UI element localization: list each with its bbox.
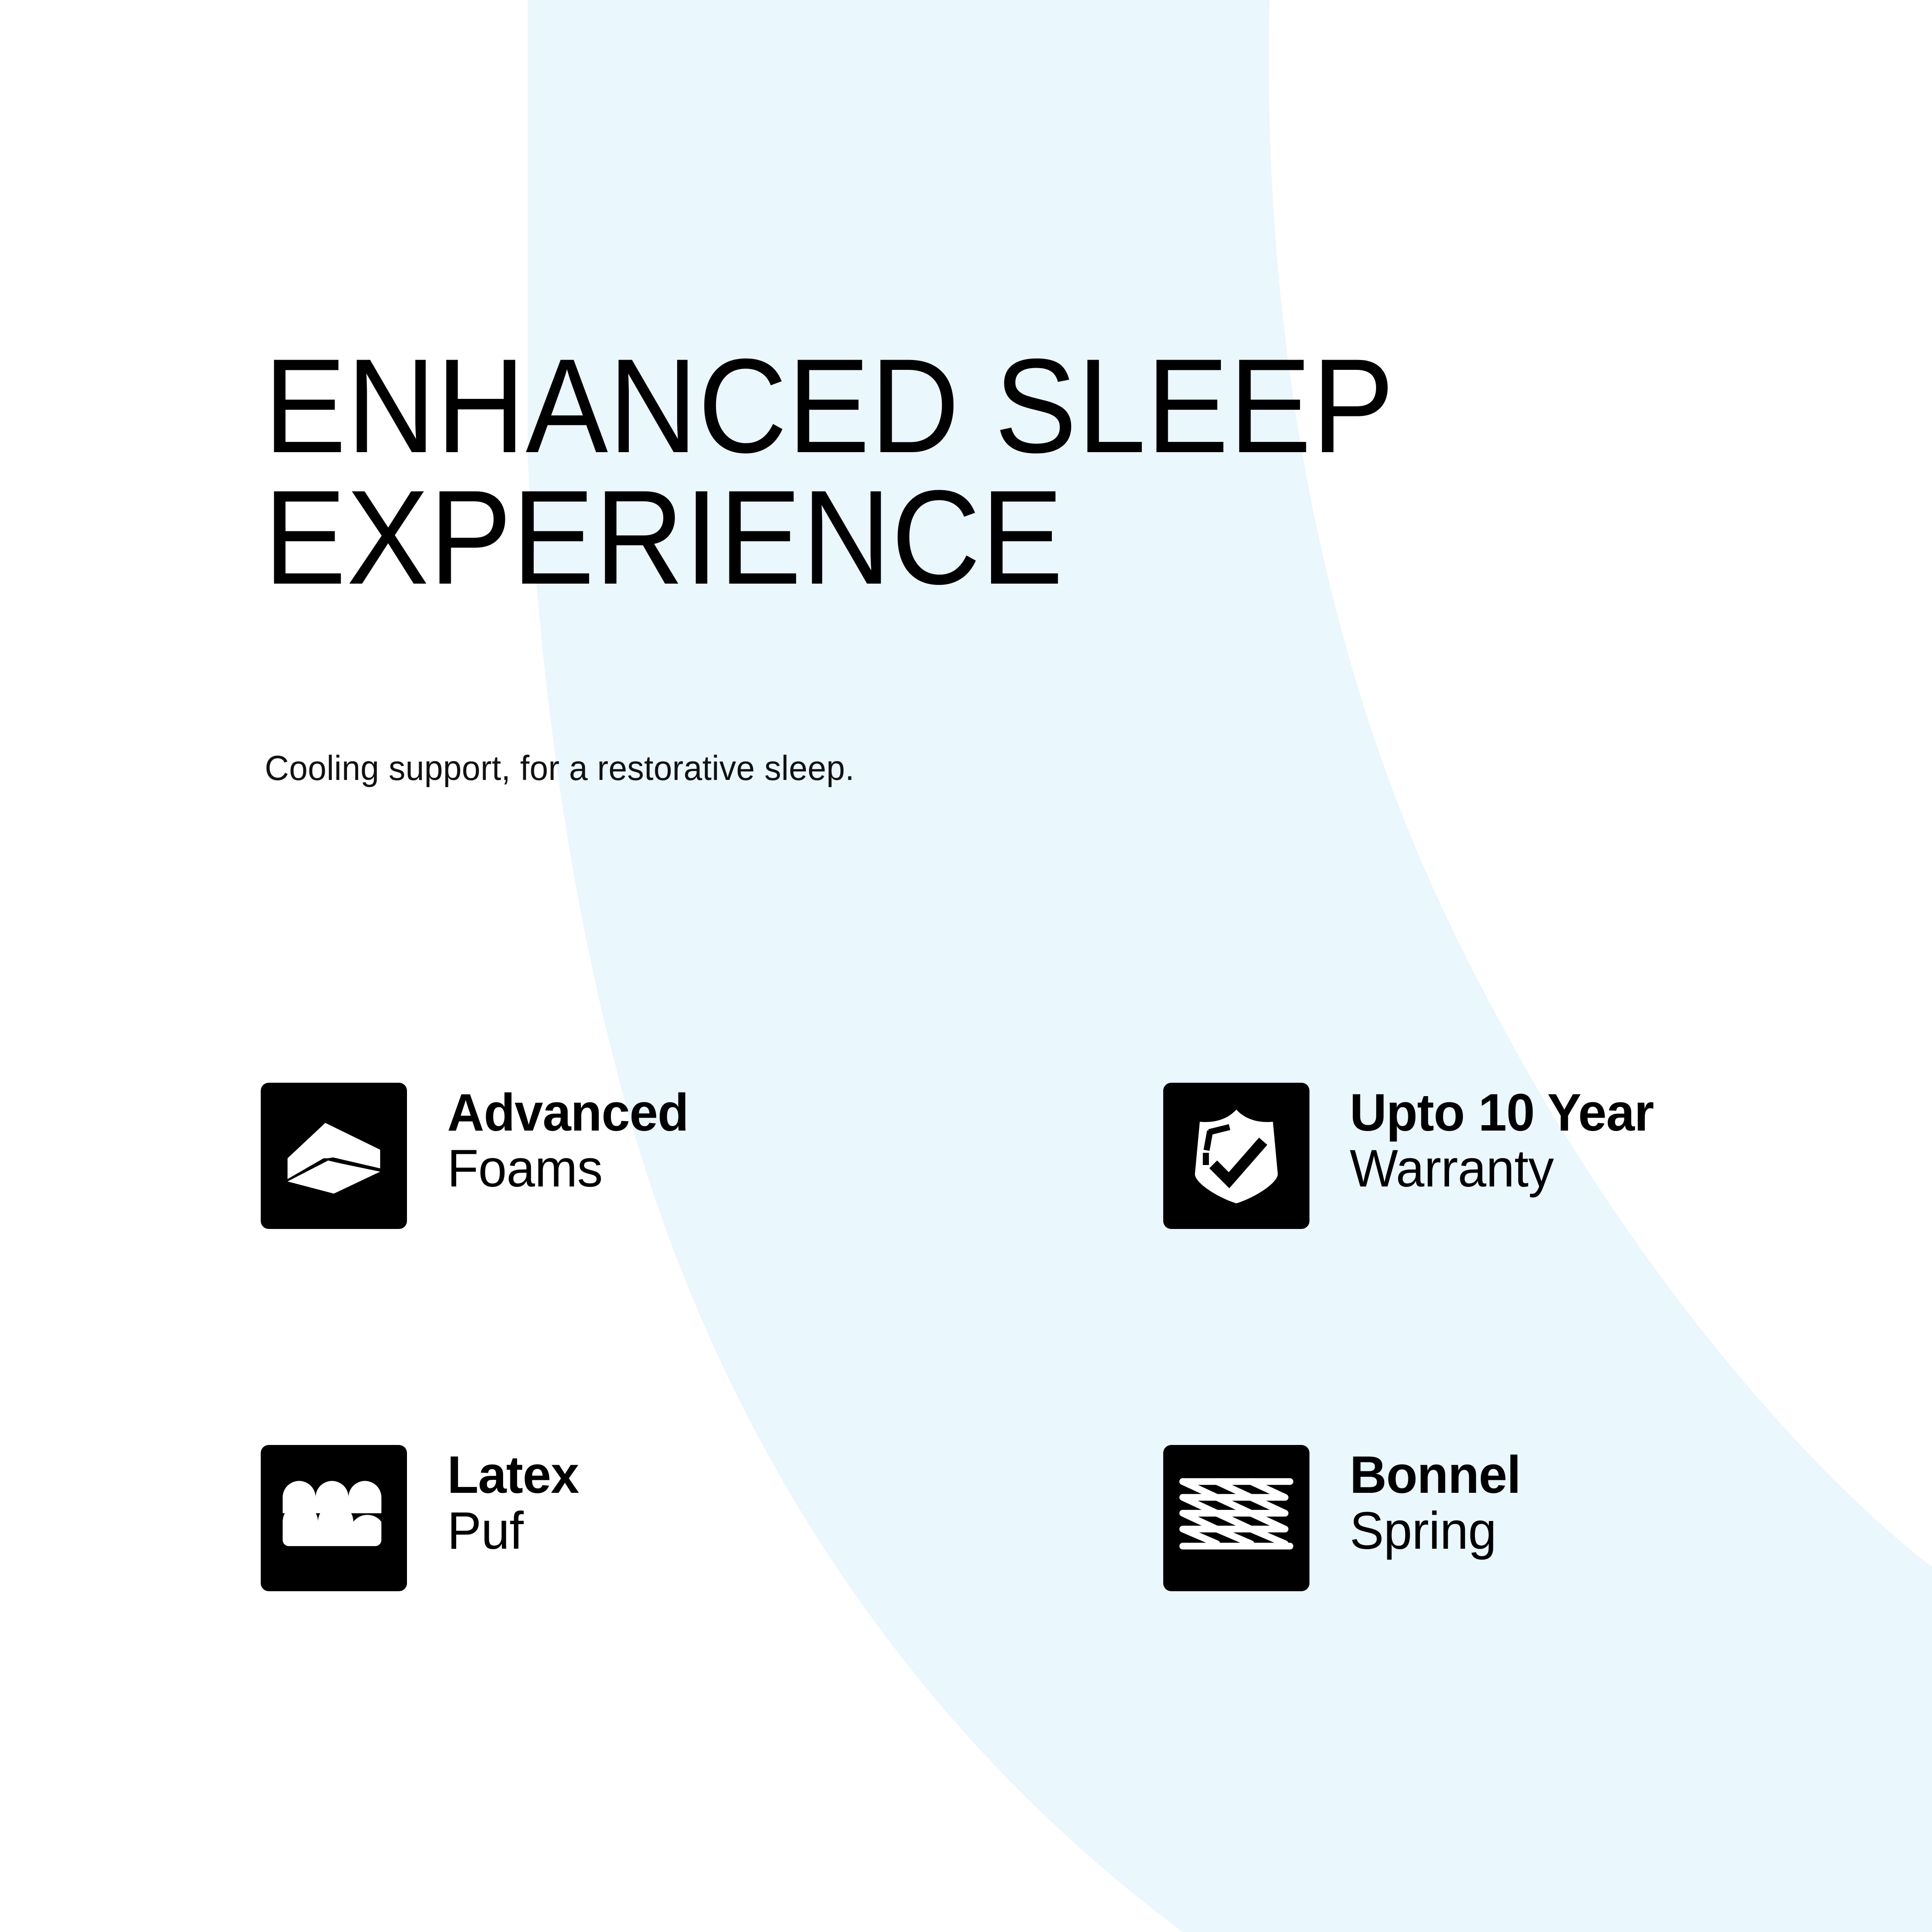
feature-subtitle: Foams: [447, 1140, 688, 1197]
feature-grid: Advanced Foams Upto 10 Year Warranty: [261, 1083, 1737, 1807]
feature-label-block: Latex Puf: [407, 1445, 583, 1559]
feature-title: Advanced: [447, 1085, 688, 1140]
feature-label-block: Upto 10 Year Warranty: [1309, 1083, 1663, 1197]
feature-bonnel-spring[interactable]: Bonnel Spring: [1163, 1445, 1736, 1807]
bonnel-spring-icon: [1163, 1445, 1309, 1591]
page-subtitle: Cooling support, for a restorative sleep…: [265, 748, 855, 788]
foam-block-icon: [261, 1083, 407, 1229]
poster-canvas: ENHANCED SLEEP EXPERIENCE Cooling suppor…: [0, 0, 1932, 1932]
headline-block: ENHANCED SLEEP EXPERIENCE: [264, 340, 1695, 603]
shield-check-icon: [1163, 1083, 1309, 1229]
feature-subtitle: Spring: [1350, 1503, 1521, 1559]
feature-label-block: Bonnel Spring: [1309, 1445, 1526, 1559]
feature-title: Upto 10 Year: [1350, 1085, 1654, 1140]
feature-label-block: Advanced Foams: [407, 1083, 696, 1197]
feature-title: Bonnel: [1350, 1448, 1521, 1503]
feature-title: Latex: [447, 1448, 579, 1503]
feature-warranty[interactable]: Upto 10 Year Warranty: [1163, 1083, 1736, 1445]
page-title: ENHANCED SLEEP EXPERIENCE: [264, 340, 1580, 603]
latex-puf-icon: [261, 1445, 407, 1591]
feature-subtitle: Puf: [447, 1503, 579, 1559]
feature-latex-puf[interactable]: Latex Puf: [261, 1445, 1163, 1807]
feature-advanced-foams[interactable]: Advanced Foams: [261, 1083, 1163, 1445]
feature-subtitle: Warranty: [1350, 1140, 1654, 1197]
